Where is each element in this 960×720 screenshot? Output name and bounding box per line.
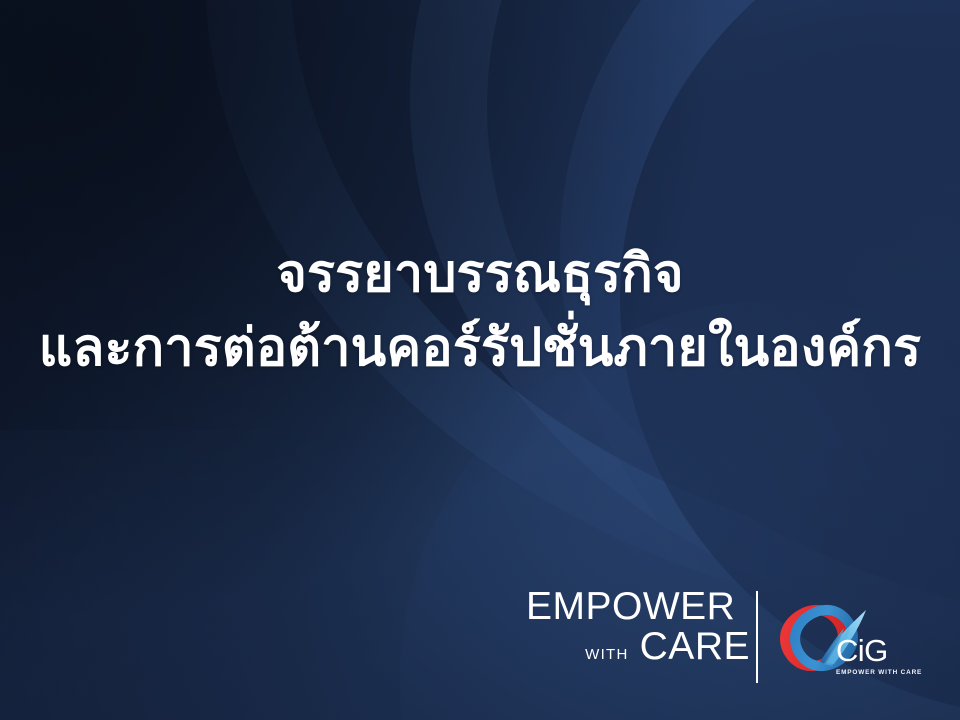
brand-lockup: EMPOWER WITH CARE [524, 588, 944, 688]
care-word: CARE [640, 627, 750, 666]
empower-word: EMPOWER [524, 588, 750, 626]
title-line-1: จรรยาบรรณธุรกิจ [0, 238, 960, 312]
presentation-slide: จรรยาบรรณธุรกิจ และการต่อต้านคอร์รัปชั่น… [0, 0, 960, 720]
with-word: WITH [585, 646, 629, 663]
slide-title: จรรยาบรรณธุรกิจ และการต่อต้านคอร์รัปชั่น… [0, 238, 960, 386]
cig-wordmark: CiG EMPOWER WITH CARE [836, 635, 940, 676]
cig-name: CiG [836, 635, 940, 666]
cig-tagline: EMPOWER WITH CARE [836, 669, 940, 676]
empower-with-care-lockup: EMPOWER WITH CARE [524, 588, 750, 666]
with-care-row: WITH CARE [524, 627, 750, 666]
title-line-2: และการต่อต้านคอร์รัปชั่นภายในองค์กร [0, 312, 960, 386]
lockup-divider [756, 591, 758, 683]
